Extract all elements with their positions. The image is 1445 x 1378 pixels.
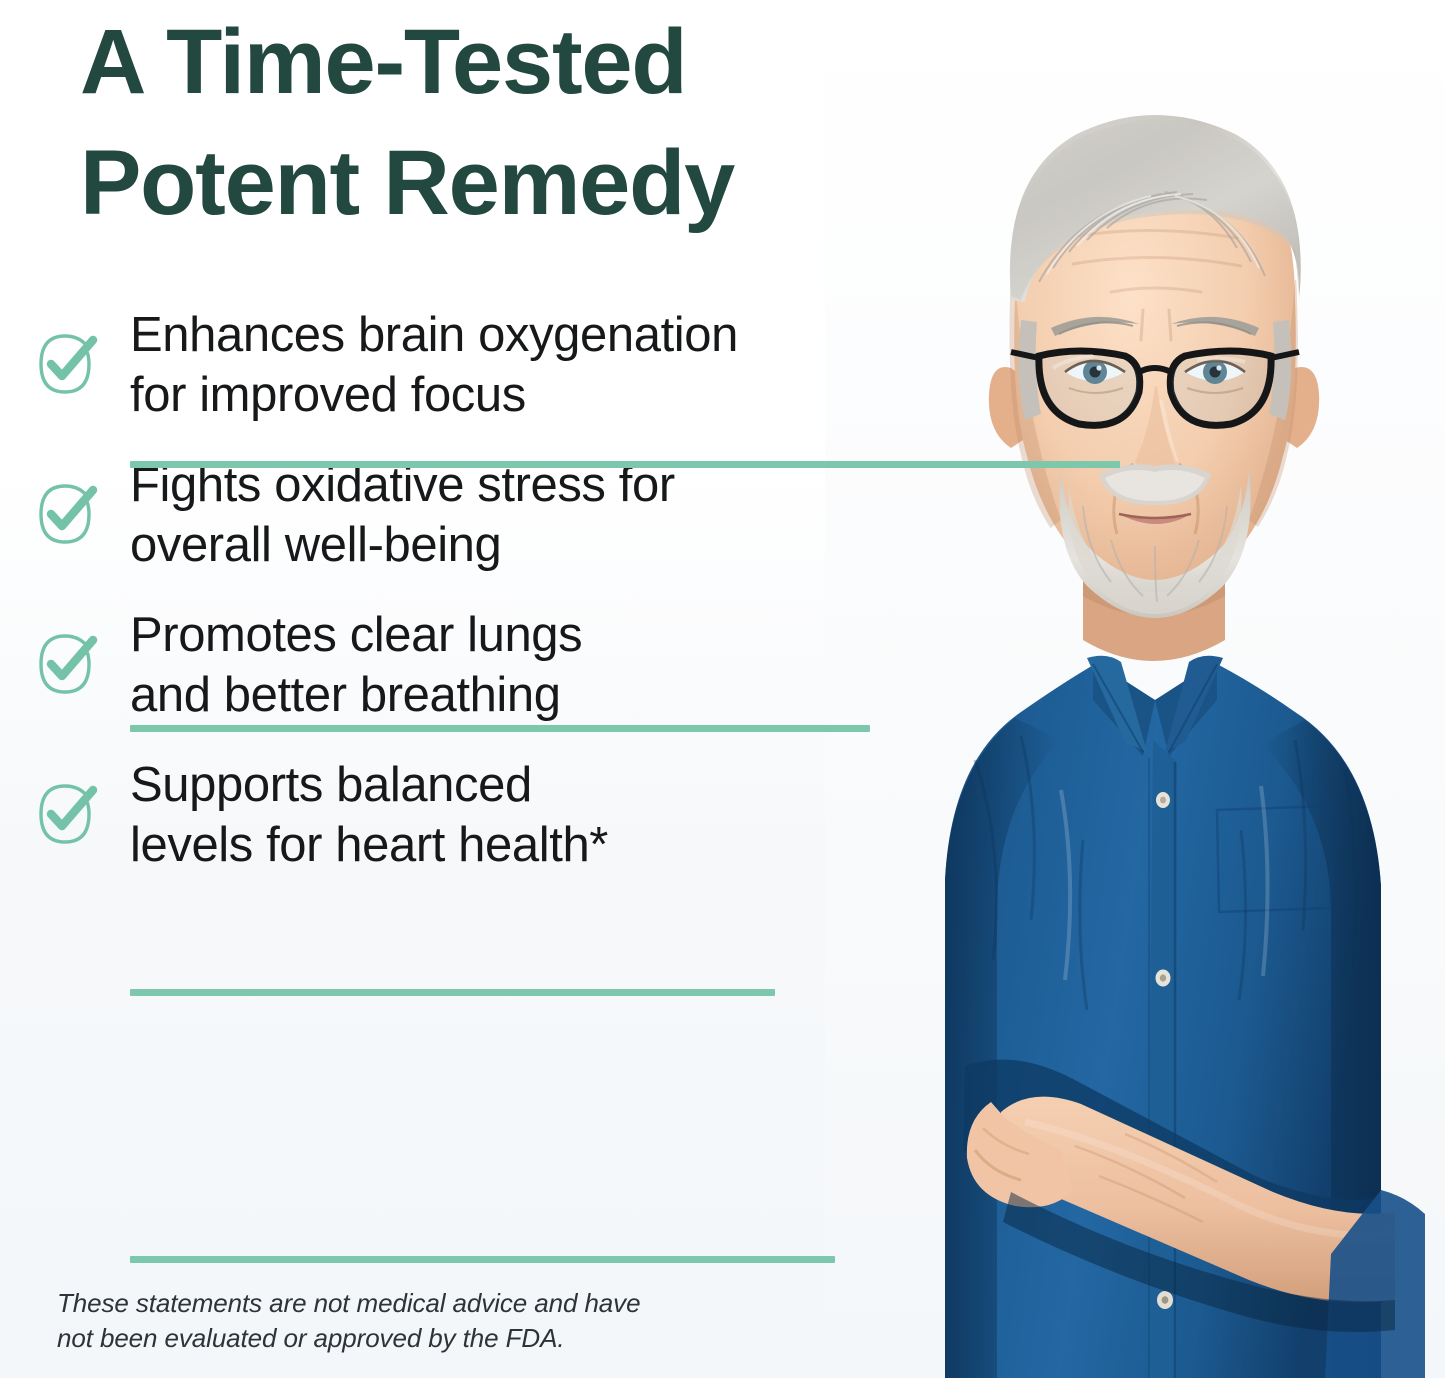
divider [130,461,1120,468]
check-circle-icon [0,750,130,852]
list-item: Supports balanced levels for heart healt… [0,750,1130,900]
benefit-list: Enhances brain oxygenation for improved … [0,300,1130,900]
list-item-label: Supports balanced levels for heart healt… [130,750,1130,876]
list-item: Fights oxidative stress for overall well… [0,450,1130,600]
list-item-label: Fights oxidative stress for overall well… [130,450,1130,576]
divider [130,1256,835,1263]
check-circle-icon [0,600,130,702]
check-circle-icon [0,300,130,402]
fda-disclaimer: These statements are not medical advice … [57,1286,757,1356]
list-item-label: Enhances brain oxygenation for improved … [130,300,1130,426]
list-item: Enhances brain oxygenation for improved … [0,300,1130,450]
divider [130,725,870,732]
page-title: A Time-Tested Potent Remedy [80,2,960,245]
divider [130,989,775,996]
list-item-label: Promotes clear lungs and better breathin… [130,600,1130,726]
promo-poster: A Time-Tested Potent Remedy Enhances bra… [0,0,1445,1378]
check-circle-icon [0,450,130,552]
